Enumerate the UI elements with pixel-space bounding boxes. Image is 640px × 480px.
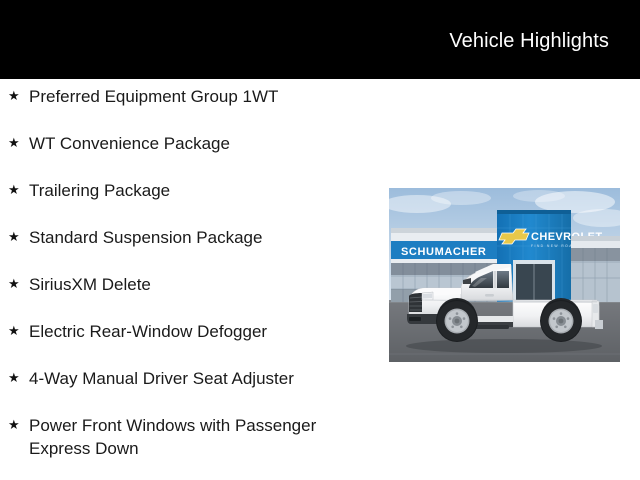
page-title: Vehicle Highlights (449, 29, 609, 53)
front-wheel (436, 300, 478, 342)
list-item-label: Standard Suspension Package (29, 224, 380, 249)
star-icon: ★ (8, 412, 29, 438)
list-item: ★ Standard Suspension Package (0, 224, 380, 271)
list-item: ★ Preferred Equipment Group 1WT (0, 83, 380, 130)
vehicle-highlights-list: ★ Preferred Equipment Group 1WT ★ WT Con… (0, 83, 380, 460)
list-item-label: Trailering Package (29, 177, 380, 202)
list-item-label: WT Convenience Package (29, 130, 380, 155)
header-bar: Vehicle Highlights (0, 0, 640, 79)
list-item: ★ SiriusXM Delete (0, 271, 380, 318)
star-icon: ★ (8, 130, 29, 156)
star-icon: ★ (8, 83, 29, 109)
list-item-label: Preferred Equipment Group 1WT (29, 83, 380, 108)
star-icon: ★ (8, 224, 29, 250)
list-item-label: Electric Rear-Window Defogger (29, 318, 380, 343)
list-item: ★ Power Front Windows with Passenger Exp… (0, 412, 380, 460)
list-item: ★ Electric Rear-Window Defogger (0, 318, 380, 365)
list-item: ★ WT Convenience Package (0, 130, 380, 177)
list-item-label: SiriusXM Delete (29, 271, 380, 296)
star-icon: ★ (8, 177, 29, 203)
star-icon: ★ (8, 318, 29, 344)
star-icon: ★ (8, 365, 29, 391)
rear-wheel (540, 300, 582, 342)
vehicle-photo-image: SCHUMACHER (389, 188, 620, 362)
list-item-label: Power Front Windows with Passenger Expre… (29, 412, 380, 460)
list-item: ★ Trailering Package (0, 177, 380, 224)
list-item-label: 4-Way Manual Driver Seat Adjuster (29, 365, 380, 390)
vehicle-photo: SCHUMACHER (389, 188, 620, 362)
dealership-sign-text: SCHUMACHER (401, 246, 486, 258)
list-item: ★ 4-Way Manual Driver Seat Adjuster (0, 365, 380, 412)
star-icon: ★ (8, 271, 29, 297)
